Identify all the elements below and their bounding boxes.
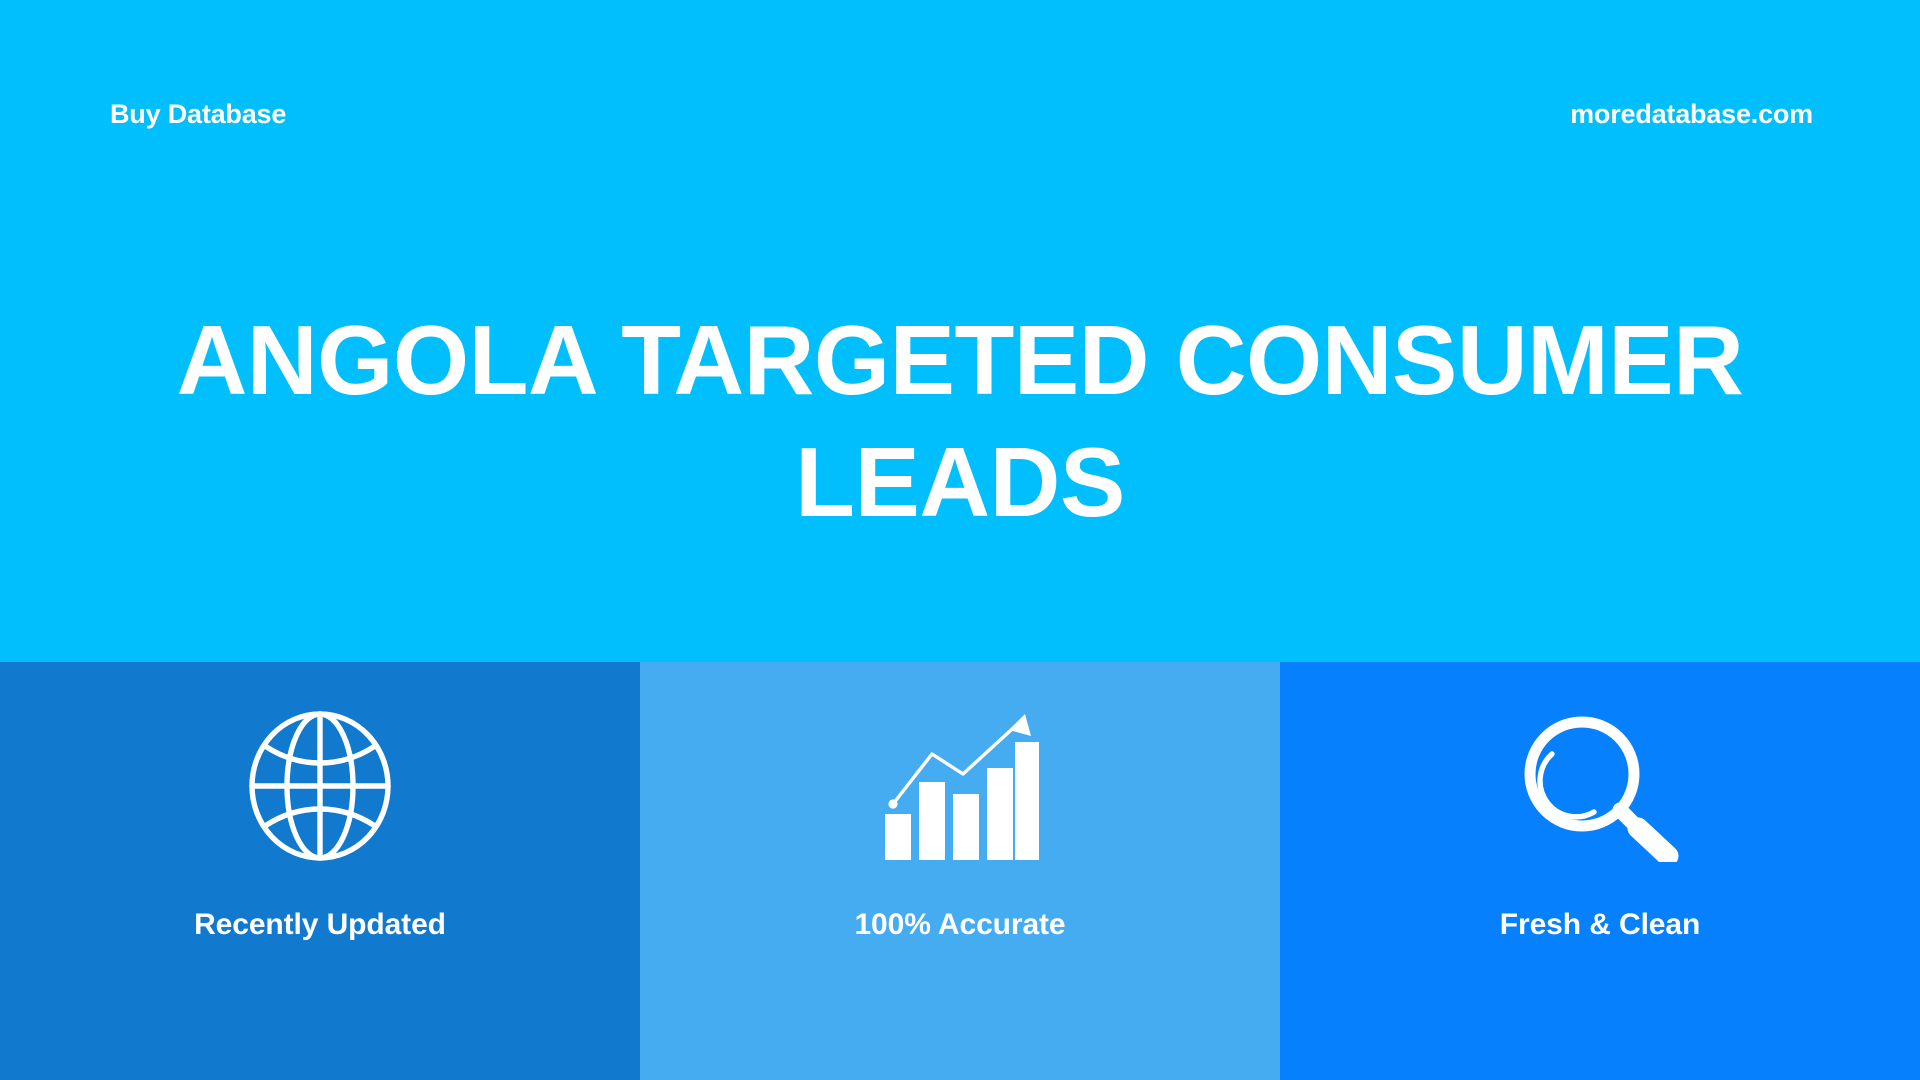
page-title-line-1: ANGOLA TARGETED CONSUMER	[60, 300, 1860, 422]
feature-card-100-accurate: 100% Accurate	[640, 662, 1280, 1080]
globe-icon	[230, 710, 410, 862]
magnifying-glass-icon	[1510, 710, 1690, 862]
hero-top-bar: Buy Database moredatabase.com	[0, 92, 1920, 136]
brand-label: Buy Database	[110, 92, 286, 136]
page-title: ANGOLA TARGETED CONSUMER LEADS	[60, 300, 1860, 543]
website-url-label: moredatabase.com	[1570, 92, 1813, 136]
feature-strip: Recently Updated	[0, 662, 1920, 1080]
growth-bar-chart-icon	[870, 710, 1050, 862]
feature-label-recently-updated: Recently Updated	[194, 908, 446, 942]
banner-page: Buy Database moredatabase.com ANGOLA TAR…	[0, 0, 1920, 1080]
feature-label-fresh-clean: Fresh & Clean	[1500, 908, 1700, 942]
feature-card-fresh-clean: Fresh & Clean	[1280, 662, 1920, 1080]
hero-section: Buy Database moredatabase.com ANGOLA TAR…	[0, 0, 1920, 662]
feature-label-100-accurate: 100% Accurate	[854, 908, 1065, 942]
page-title-line-2: LEADS	[60, 422, 1860, 544]
feature-card-recently-updated: Recently Updated	[0, 662, 640, 1080]
